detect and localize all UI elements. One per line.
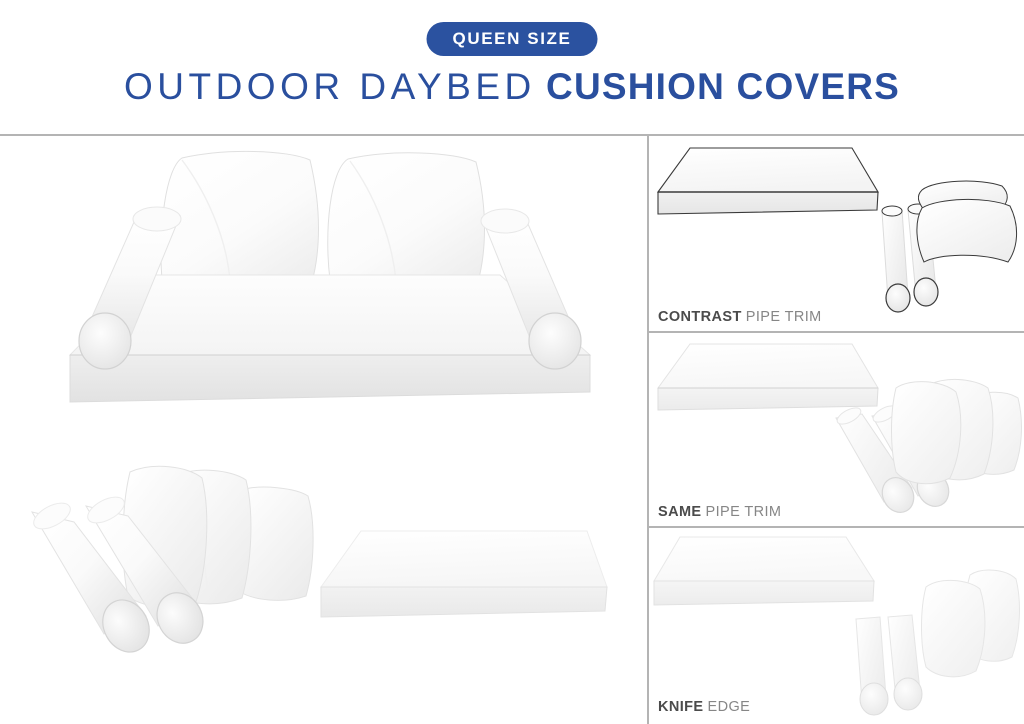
back-pillow: [917, 199, 1017, 262]
header-divider: [0, 134, 1024, 136]
page-title-bold: CUSHION COVERS: [546, 66, 900, 107]
back-pillow: [922, 580, 985, 676]
panel-knife-image: [650, 531, 1024, 711]
contrast-piping: [914, 278, 938, 306]
bolster-pillow: [856, 617, 888, 715]
main-product-image: [30, 140, 630, 440]
poster-canvas: QUEEN SIZE OUTDOOR DAYBED CUSHION COVERS: [0, 0, 1024, 724]
header: QUEEN SIZE OUTDOOR DAYBED CUSHION COVERS: [0, 0, 1024, 135]
mattress-slab: [658, 148, 878, 214]
panel-divider-1: [648, 331, 1024, 333]
panel-label-contrast-regular: PIPE TRIM: [746, 309, 822, 325]
back-pillow: [328, 153, 485, 288]
panel-label-contrast: CONTRAST PIPE TRIM: [658, 310, 822, 325]
bolsters-and-pillows-group: [10, 450, 330, 675]
page-title-light: OUTDOOR DAYBED: [124, 66, 536, 107]
bolster-pillow: [888, 615, 922, 710]
contrast-piping: [917, 199, 1017, 262]
mattress-slab-detail: [305, 525, 625, 635]
column-divider: [647, 136, 649, 724]
panel-label-knife-regular: EDGE: [708, 699, 751, 715]
panel-label-same-bold: SAME: [658, 504, 702, 520]
back-pillow: [892, 382, 961, 484]
panel-label-same-regular: PIPE TRIM: [706, 504, 782, 520]
panel-same-image: [650, 336, 1024, 516]
page-title: OUTDOOR DAYBED CUSHION COVERS: [0, 68, 1024, 105]
panel-label-same: SAME PIPE TRIM: [658, 505, 781, 520]
same-piping: [892, 382, 961, 484]
mattress-slab: [321, 531, 607, 617]
mattress-slab: [654, 537, 874, 605]
bolster-pillow: [882, 206, 910, 312]
size-badge: QUEEN SIZE: [427, 22, 598, 56]
panel-label-contrast-bold: CONTRAST: [658, 309, 742, 325]
panel-contrast-image: [650, 140, 1024, 320]
mattress-slab: [658, 344, 878, 410]
contrast-piping: [886, 284, 910, 312]
panel-divider-2: [648, 526, 1024, 528]
back-pillow: [161, 151, 319, 287]
panel-label-knife-bold: KNIFE: [658, 699, 704, 715]
panel-label-knife: KNIFE EDGE: [658, 700, 750, 715]
